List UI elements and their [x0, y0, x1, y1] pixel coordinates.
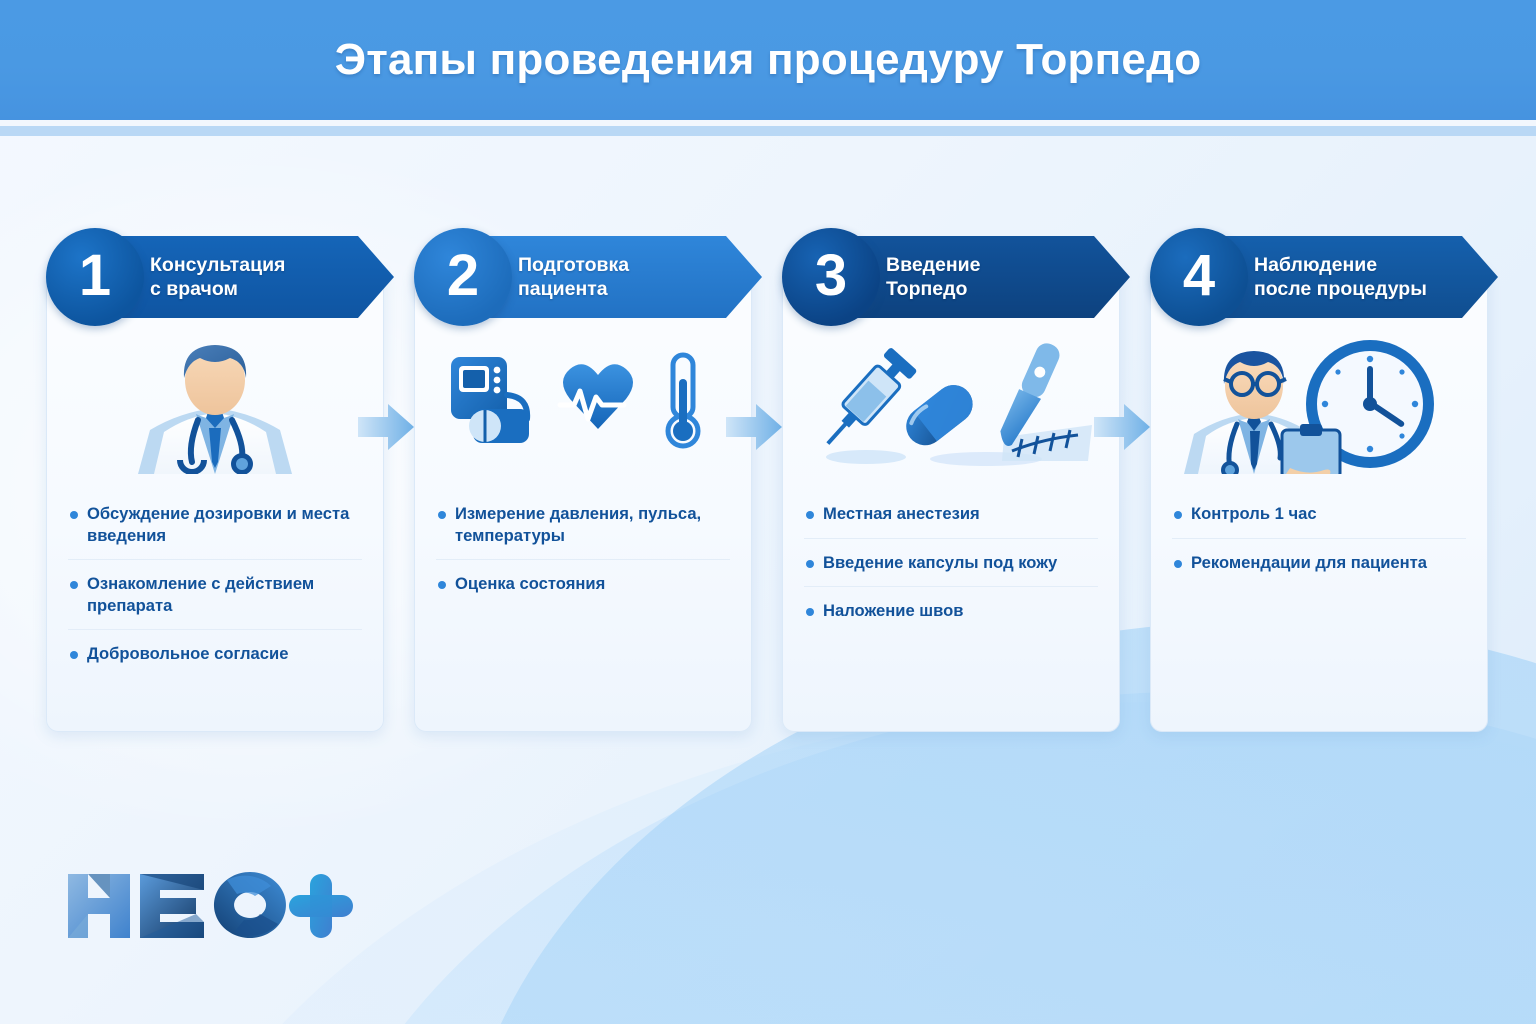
vitals-icons	[443, 349, 723, 459]
bullet-dot-icon	[806, 560, 814, 568]
step-number-badge: 2	[414, 228, 512, 326]
steps-row: Консультация с врачом 1	[46, 228, 1490, 744]
arrow-right-icon	[358, 404, 414, 450]
bullet-dot-icon	[1174, 560, 1182, 568]
step-number-badge: 4	[1150, 228, 1248, 326]
step-number: 2	[447, 247, 479, 305]
list-item: Добровольное согласие	[68, 630, 362, 678]
step-card-3[interactable]: Введение Торпедо 3	[782, 228, 1120, 732]
step-number-badge: 3	[782, 228, 880, 326]
bullet-list: Контроль 1 час Рекомендации для пациента	[1172, 490, 1466, 586]
bullet-label: Обсуждение дозировки и места введения	[87, 503, 360, 546]
bullet-label: Наложение швов	[823, 600, 963, 622]
bullet-dot-icon	[70, 581, 78, 589]
bullet-dot-icon	[70, 511, 78, 519]
bullet-label: Оценка состояния	[455, 573, 605, 595]
arrow-right-icon	[1094, 404, 1150, 450]
procedure-tools-icons	[806, 339, 1096, 469]
monitoring-illustration	[1162, 332, 1476, 476]
step-number: 4	[1183, 247, 1215, 305]
step-number: 3	[815, 247, 847, 305]
connector-arrow-1-2	[358, 404, 414, 450]
bullet-dot-icon	[806, 608, 814, 616]
step-title: Подготовка пациента	[518, 253, 629, 301]
bullet-label: Контроль 1 час	[1191, 503, 1317, 525]
list-item: Контроль 1 час	[1172, 490, 1466, 539]
bullet-dot-icon	[1174, 511, 1182, 519]
list-item: Ознакомление с действием препарата	[68, 560, 362, 630]
doctor-icon	[110, 334, 320, 474]
arrow-right-icon	[726, 404, 782, 450]
doctor-clipboard-clock-icon	[1174, 334, 1464, 474]
connector-arrow-2-3	[726, 404, 782, 450]
brand-logo[interactable]	[64, 868, 354, 944]
vitals-icons-group	[426, 332, 740, 476]
page-title: Этапы проведения процедуру Торпедо	[335, 35, 1202, 85]
bullet-list: Местная анестезия Введение капсулы под к…	[804, 490, 1098, 635]
bullet-label: Местная анестезия	[823, 503, 980, 525]
bullet-list: Обсуждение дозировки и места введения Оз…	[68, 490, 362, 678]
header-banner: Этапы проведения процедуру Торпедо	[0, 0, 1536, 120]
step-title: Введение Торпедо	[886, 253, 981, 301]
header-divider-blue	[0, 126, 1536, 136]
list-item: Наложение швов	[804, 587, 1098, 635]
step-number-badge: 1	[46, 228, 144, 326]
doctor-portrait-illustration	[58, 332, 372, 476]
procedure-tools-group	[794, 332, 1108, 476]
step-title: Консультация с врачом	[150, 253, 285, 301]
bullet-dot-icon	[438, 581, 446, 589]
bullet-label: Добровольное согласие	[87, 643, 288, 665]
bullet-label: Рекомендации для пациента	[1191, 552, 1427, 574]
list-item: Рекомендации для пациента	[1172, 539, 1466, 587]
list-item: Местная анестезия	[804, 490, 1098, 539]
step-title: Наблюдение после процедуры	[1254, 253, 1427, 301]
bullet-label: Введение капсулы под кожу	[823, 552, 1057, 574]
step-card-2[interactable]: Подготовка пациента 2	[414, 228, 752, 732]
step-card-1[interactable]: Консультация с врачом 1	[46, 228, 384, 732]
neo-plus-logo-icon	[64, 868, 354, 944]
list-item: Оценка состояния	[436, 560, 730, 608]
bullet-dot-icon	[438, 511, 446, 519]
bullet-dot-icon	[70, 651, 78, 659]
bullet-dot-icon	[806, 511, 814, 519]
bullet-list: Измерение давления, пульса, температуры …	[436, 490, 730, 608]
step-card-4[interactable]: Наблюдение после процедуры 4	[1150, 228, 1488, 732]
connector-arrow-3-4	[1094, 404, 1150, 450]
list-item: Обсуждение дозировки и места введения	[68, 490, 362, 560]
list-item: Введение капсулы под кожу	[804, 539, 1098, 588]
list-item: Измерение давления, пульса, температуры	[436, 490, 730, 560]
bullet-label: Ознакомление с действием препарата	[87, 573, 360, 616]
step-number: 1	[79, 247, 111, 305]
bullet-label: Измерение давления, пульса, температуры	[455, 503, 728, 546]
